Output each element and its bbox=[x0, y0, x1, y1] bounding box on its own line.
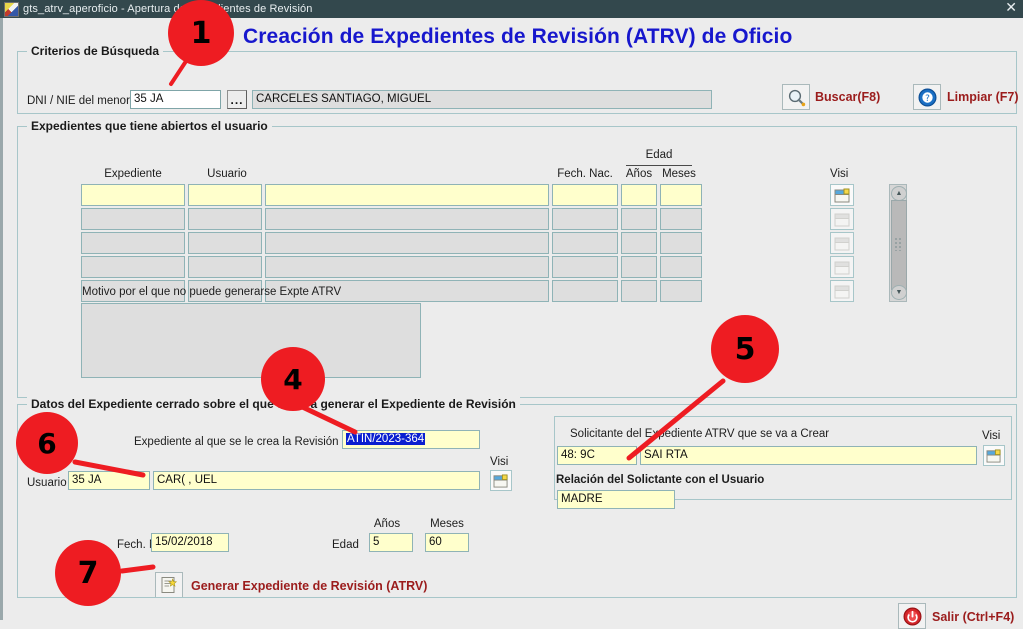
window-title-bar[interactable]: gts_atrv_aperoficio - Apertura de Expedi… bbox=[0, 0, 1023, 18]
scrollbar-grip bbox=[894, 237, 902, 251]
open-files-legend: Expedientes que tiene abiertos el usuari… bbox=[27, 119, 272, 133]
table-row[interactable] bbox=[552, 280, 618, 302]
table-row[interactable] bbox=[621, 256, 657, 278]
solicitante-visi-label: Visi bbox=[982, 430, 1000, 442]
expediente-revision-input[interactable]: ATIN/2023-364 bbox=[342, 430, 480, 449]
usuario-visi-label: Visi bbox=[490, 456, 508, 468]
edad-header-rule bbox=[626, 165, 692, 166]
generar-expediente-label[interactable]: Generar Expediente de Revisión (ATRV) bbox=[191, 579, 427, 593]
table-row[interactable] bbox=[81, 184, 185, 206]
salir-label[interactable]: Salir (Ctrl+F4) bbox=[932, 610, 1014, 624]
annotation-marker-7: 7 bbox=[55, 540, 121, 606]
page-title: Creación de Expedientes de Revisión (ATR… bbox=[243, 25, 792, 49]
svg-text:?: ? bbox=[925, 94, 930, 104]
folder-document-icon bbox=[834, 236, 851, 251]
column-header-fech-nac: Fech. Nac. bbox=[552, 168, 618, 180]
fech-nac-input[interactable]: 15/02/2018 bbox=[151, 533, 229, 552]
column-header-expediente: Expediente bbox=[81, 168, 185, 180]
solicitante-label: Solicitante del Expediente ATRV que se v… bbox=[570, 428, 829, 440]
table-row[interactable] bbox=[621, 208, 657, 230]
column-header-usuario: Usuario bbox=[191, 168, 263, 180]
limpiar-button[interactable]: ? bbox=[913, 84, 941, 110]
meses-header: Meses bbox=[423, 518, 471, 530]
annotation-marker-1: 1 bbox=[168, 0, 234, 66]
limpiar-label[interactable]: Limpiar (F7) bbox=[947, 90, 1019, 104]
folder-document-icon bbox=[834, 188, 851, 203]
folder-document-icon bbox=[834, 260, 851, 275]
table-row[interactable] bbox=[660, 232, 702, 254]
dni-browse-button[interactable]: ... bbox=[227, 90, 247, 109]
usuario-visi-button[interactable] bbox=[490, 470, 512, 491]
table-row[interactable] bbox=[552, 232, 618, 254]
folder-document-icon bbox=[834, 212, 851, 227]
relacion-label: Relación del Solictante con el Usuario bbox=[556, 474, 764, 486]
row-visi-button[interactable] bbox=[830, 256, 854, 278]
row-visi-button[interactable] bbox=[830, 184, 854, 206]
folder-document-icon bbox=[986, 449, 1002, 463]
dni-label: DNI / NIE del menor bbox=[27, 95, 130, 107]
folder-document-icon bbox=[834, 284, 851, 299]
dni-input[interactable]: 35 JA bbox=[130, 90, 221, 109]
footer-divider bbox=[17, 597, 1017, 598]
relacion-input[interactable]: MADRE bbox=[557, 490, 675, 509]
edad-anios-input[interactable]: 5 bbox=[369, 533, 413, 552]
app-icon bbox=[4, 2, 19, 17]
search-criteria-legend: Criterios de Búsqueda bbox=[27, 44, 163, 58]
salir-button[interactable] bbox=[898, 603, 926, 629]
scroll-down-icon[interactable]: ▼ bbox=[891, 285, 907, 300]
table-row[interactable] bbox=[660, 208, 702, 230]
window-client-area: Creación de Expedientes de Revisión (ATR… bbox=[0, 18, 1023, 620]
folder-document-icon bbox=[493, 474, 509, 488]
edad-label: Edad bbox=[332, 539, 359, 551]
column-header-anios: Años bbox=[621, 168, 657, 180]
row-visi-button[interactable] bbox=[830, 280, 854, 302]
row-visi-button[interactable] bbox=[830, 232, 854, 254]
close-icon[interactable]: ✕ bbox=[1005, 1, 1017, 15]
new-document-icon bbox=[160, 576, 178, 594]
table-row[interactable] bbox=[188, 208, 262, 230]
column-header-meses: Meses bbox=[657, 168, 701, 180]
solicitante-visi-button[interactable] bbox=[983, 445, 1005, 466]
table-row[interactable] bbox=[81, 256, 185, 278]
expediente-revision-label: Expediente al que se le crea la Revisión bbox=[134, 436, 339, 448]
window-title: gts_atrv_aperoficio - Apertura de Expedi… bbox=[23, 3, 312, 15]
table-scrollbar[interactable]: ▲ ▼ bbox=[889, 184, 907, 302]
solicitante-name-input[interactable]: SAI RTA bbox=[640, 446, 977, 465]
row-visi-button[interactable] bbox=[830, 208, 854, 230]
table-row[interactable] bbox=[265, 256, 549, 278]
magnifier-icon bbox=[787, 88, 806, 107]
table-row[interactable] bbox=[81, 208, 185, 230]
clear-circle-icon: ? bbox=[918, 88, 937, 107]
generar-expediente-button[interactable] bbox=[155, 572, 183, 598]
table-row[interactable] bbox=[621, 280, 657, 302]
table-row[interactable] bbox=[552, 256, 618, 278]
usuario-name-input[interactable]: CAR( , UEL bbox=[153, 471, 480, 490]
table-row[interactable] bbox=[660, 256, 702, 278]
table-row[interactable] bbox=[552, 184, 618, 206]
edad-group-header: Edad bbox=[634, 149, 684, 161]
table-row[interactable] bbox=[265, 208, 549, 230]
edad-meses-input[interactable]: 60 bbox=[425, 533, 469, 552]
buscar-button[interactable] bbox=[782, 84, 810, 110]
table-row[interactable] bbox=[188, 232, 262, 254]
visi-column-header: Visi bbox=[830, 168, 862, 180]
table-row[interactable] bbox=[621, 184, 657, 206]
table-row[interactable] bbox=[265, 232, 549, 254]
motivo-label: Motivo por el que no puede generarse Exp… bbox=[82, 286, 341, 298]
usuario-label: Usuario bbox=[27, 477, 67, 489]
expediente-selected-text: ATIN/2023-364 bbox=[346, 433, 425, 445]
annotation-marker-6: 6 bbox=[16, 412, 78, 474]
table-row[interactable] bbox=[265, 184, 549, 206]
buscar-label[interactable]: Buscar(F8) bbox=[815, 90, 880, 104]
scroll-up-icon[interactable]: ▲ bbox=[891, 186, 907, 201]
table-row[interactable] bbox=[660, 184, 702, 206]
table-row[interactable] bbox=[660, 280, 702, 302]
usuario-id-input[interactable]: 35 JA bbox=[68, 471, 150, 490]
annotation-marker-4: 4 bbox=[261, 347, 325, 411]
table-row[interactable] bbox=[621, 232, 657, 254]
power-icon bbox=[903, 607, 922, 626]
user-name-display: CARCELES SANTIAGO, MIGUEL bbox=[252, 90, 712, 109]
table-row[interactable] bbox=[81, 232, 185, 254]
anios-header: Años bbox=[366, 518, 408, 530]
table-row[interactable] bbox=[188, 184, 262, 206]
annotation-marker-5: 5 bbox=[711, 315, 779, 383]
motivo-textarea[interactable] bbox=[81, 303, 421, 378]
table-row[interactable] bbox=[188, 256, 262, 278]
solicitante-id-input[interactable]: 48: 9C bbox=[557, 446, 637, 465]
table-row[interactable] bbox=[552, 208, 618, 230]
